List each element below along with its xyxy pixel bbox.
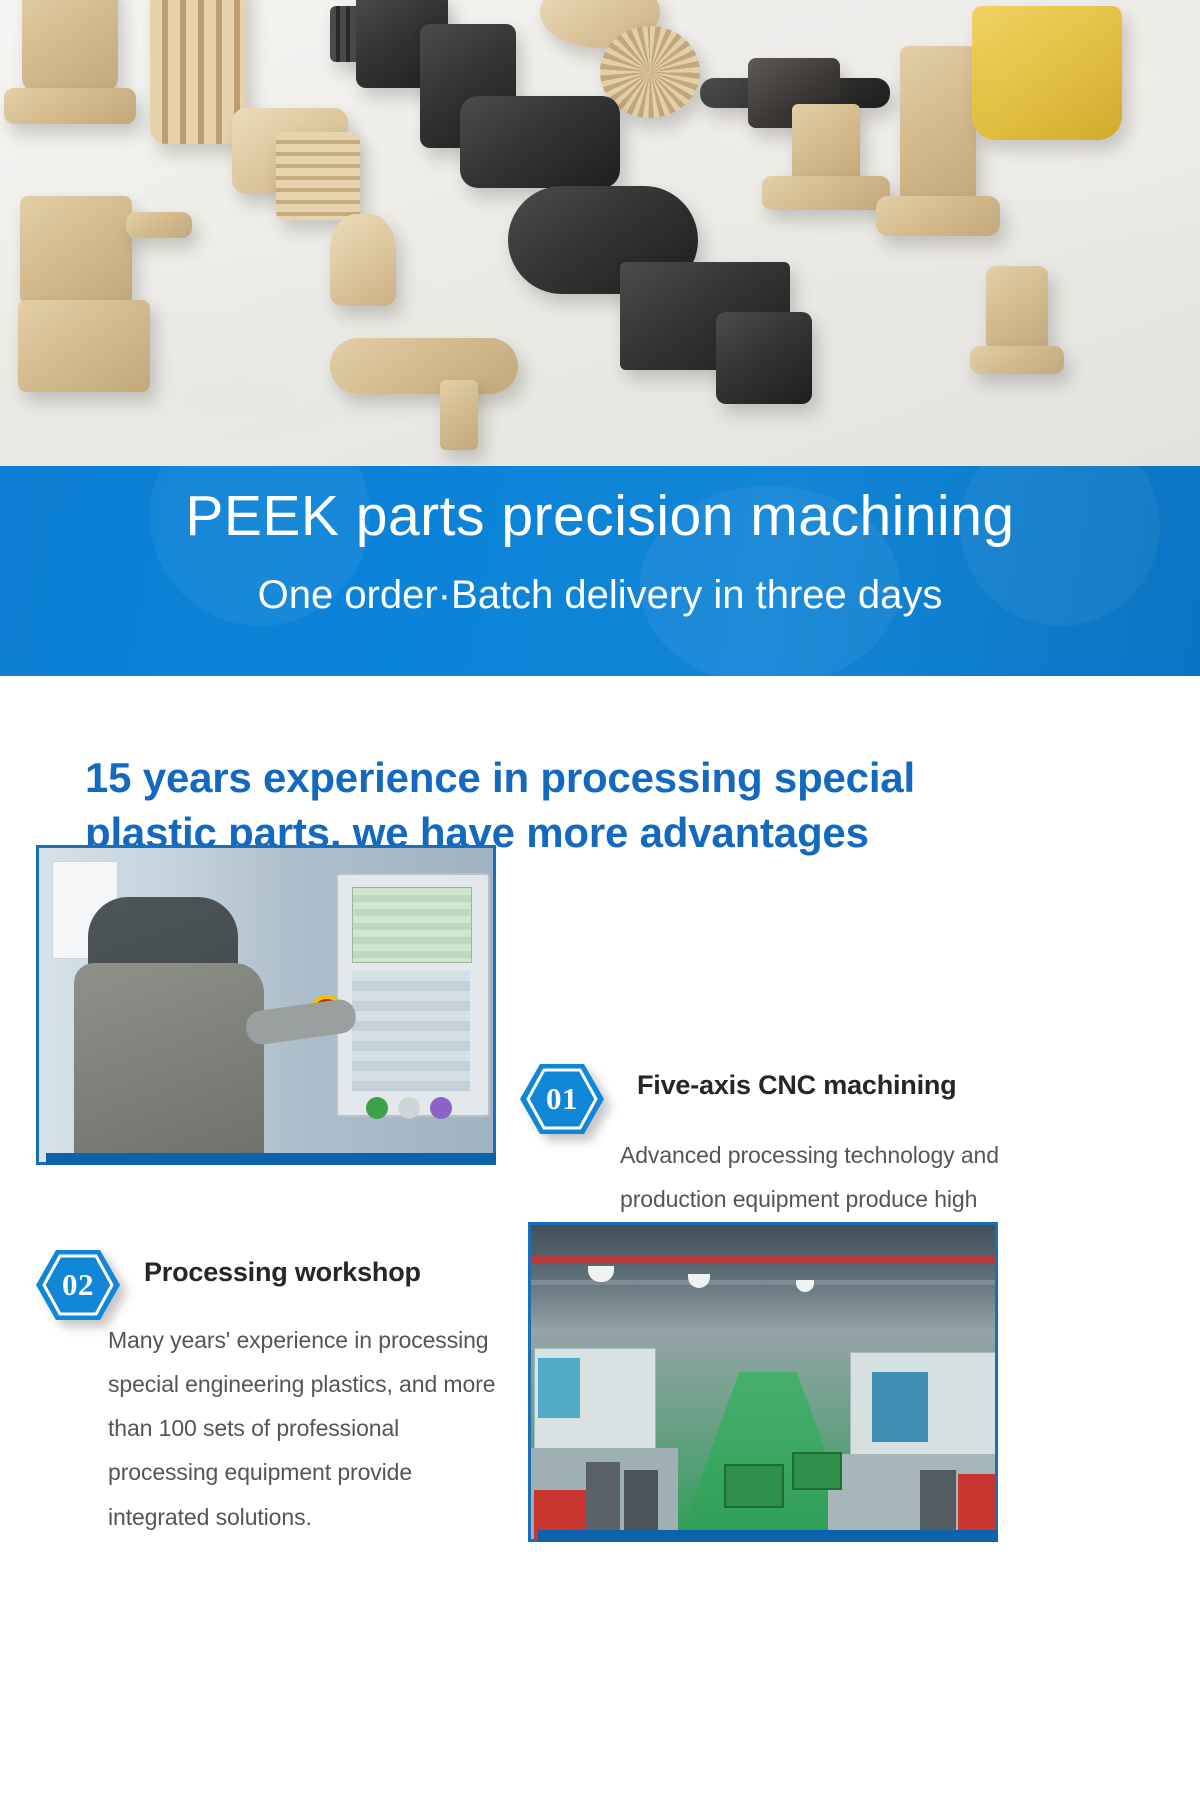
feature-02-photo-underbar: [538, 1530, 998, 1542]
part-stepped-sleeve: [900, 46, 976, 202]
part-sleeve-collar: [876, 196, 1000, 236]
part-pin-collar: [970, 346, 1064, 374]
section-heading-line-1: 15 years experience in processing specia…: [85, 750, 1085, 805]
part-bushing-flange: [762, 176, 890, 210]
feature-01-title: Five-axis CNC machining: [637, 1070, 956, 1101]
banner-title: PEEK parts precision machining: [0, 484, 1200, 550]
feature-01-photo-underbar: [46, 1153, 496, 1165]
feature-02-photo: [528, 1222, 998, 1542]
part-manifold-block: [20, 196, 132, 304]
part-spool-top-left: [22, 0, 118, 92]
feature-01-number: 01: [519, 1062, 605, 1136]
part-small-pin: [986, 266, 1048, 352]
part-tall-bushing: [792, 104, 860, 182]
feature-01-number-badge: 01: [519, 1062, 605, 1136]
banner-subtitle: One order·Batch delivery in three days: [0, 571, 1200, 619]
part-cone-plug: [330, 214, 396, 306]
feature-02-title: Processing workshop: [144, 1257, 421, 1288]
part-amber-cup: [972, 6, 1122, 140]
feature-02-number-badge: 02: [35, 1248, 121, 1322]
part-end-cap: [716, 312, 812, 404]
feature-02-body: Many years' experience in processing spe…: [108, 1318, 508, 1539]
feature-01-photo: [36, 845, 496, 1165]
part-drilled-bar: [330, 338, 518, 394]
part-nipple: [126, 212, 192, 238]
feature-01-photo-border: [36, 845, 496, 1165]
part-bracket: [18, 300, 150, 392]
part-spool-base: [4, 88, 136, 124]
part-bar-stem: [440, 380, 478, 450]
part-ribbed-sleeve: [276, 132, 360, 220]
hero-banner: PEEK parts precision machining One order…: [0, 466, 1200, 676]
feature-02-photo-border: [528, 1222, 998, 1542]
hero-product-photo: [0, 0, 1200, 470]
part-manifold-dark: [460, 96, 620, 188]
feature-02-number: 02: [35, 1248, 121, 1322]
